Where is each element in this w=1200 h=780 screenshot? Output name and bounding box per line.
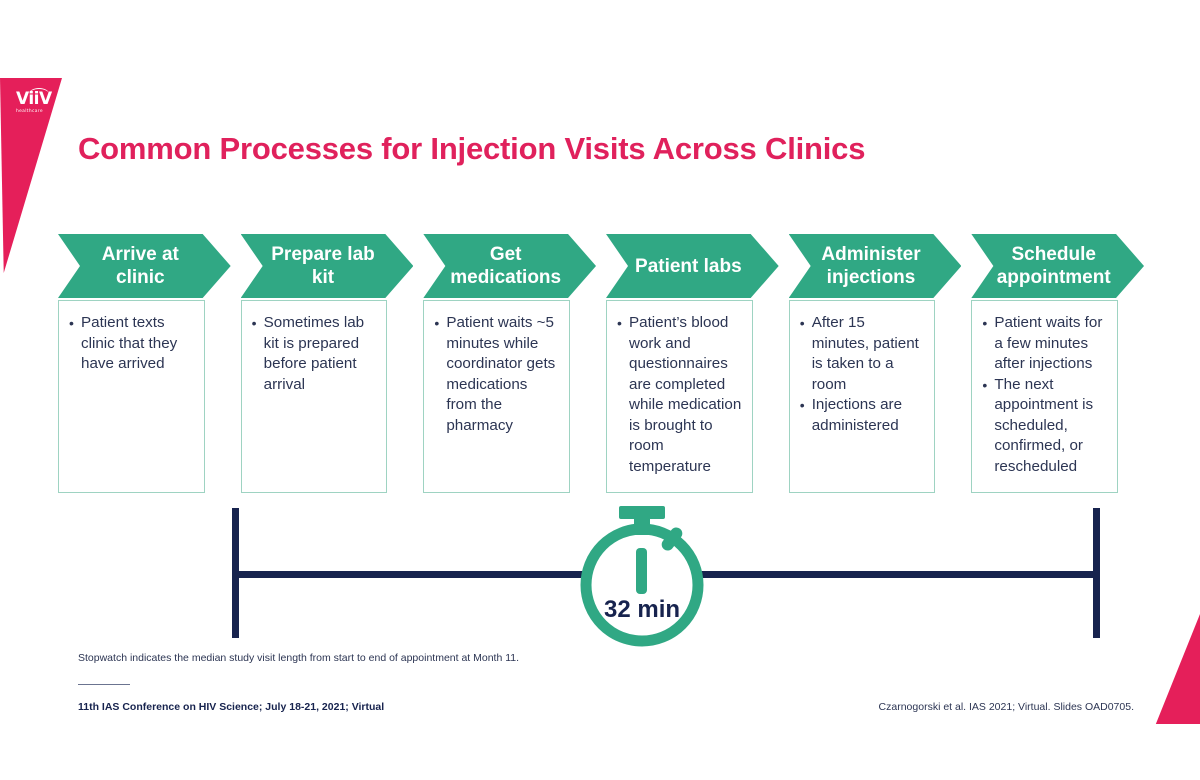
step-header-label: Prepare lab kit (259, 243, 388, 289)
step-body-box: Patient waits ~5 minutes while coordinat… (423, 300, 570, 493)
list-item: Sometimes lab kit is prepared before pat… (252, 313, 379, 395)
list-item: Patient’s blood work and questionnaires … (617, 313, 744, 477)
step-bullet-list: Patient waits ~5 minutes while coordinat… (434, 313, 561, 436)
process-step-5: Administer injections After 15 minutes, … (789, 234, 972, 493)
step-header-chevron: Get medications (423, 234, 596, 298)
footnote-text: Stopwatch indicates the median study vis… (78, 652, 519, 664)
timeline-start-cap (232, 508, 239, 638)
brand-wedge-left-icon (0, 78, 62, 273)
brand-wedge-right-icon (1152, 614, 1200, 724)
step-bullet-list: Patient’s blood work and questionnaires … (617, 313, 744, 477)
step-header-chevron: Prepare lab kit (241, 234, 414, 298)
step-bullet-list: After 15 minutes, patient is taken to a … (800, 313, 927, 436)
list-item: Patient waits ~5 minutes while coordinat… (434, 313, 561, 436)
step-header-chevron: Patient labs (606, 234, 779, 298)
footer-conference-text: 11th IAS Conference on HIV Science; July… (78, 701, 384, 713)
process-step-3: Get medications Patient waits ~5 minutes… (423, 234, 606, 493)
step-bullet-list: Patient texts clinic that they have arri… (69, 313, 196, 375)
step-header-label: Schedule appointment (989, 243, 1118, 289)
step-bullet-list: Patient waits for a few minutes after in… (982, 313, 1109, 477)
footer-divider (78, 684, 130, 685)
step-body-box: After 15 minutes, patient is taken to a … (789, 300, 936, 493)
timeline-end-cap (1093, 508, 1100, 638)
list-item: Patient waits for a few minutes after in… (982, 313, 1109, 375)
step-header-chevron: Schedule appointment (971, 234, 1144, 298)
step-body-box: Patient waits for a few minutes after in… (971, 300, 1118, 493)
page-title: Common Processes for Injection Visits Ac… (78, 131, 865, 167)
list-item: After 15 minutes, patient is taken to a … (800, 313, 927, 395)
stopwatch-icon: 32 min (562, 500, 722, 650)
step-header-label: Administer injections (807, 243, 936, 289)
step-header-chevron: Arrive at clinic (58, 234, 231, 298)
step-header-label: Get medications (441, 243, 570, 289)
step-header-label: Patient labs (635, 255, 742, 278)
process-step-1: Arrive at clinic Patient texts clinic th… (58, 234, 241, 493)
footer-citation-text: Czarnogorski et al. IAS 2021; Virtual. S… (879, 701, 1134, 713)
step-body-box: Sometimes lab kit is prepared before pat… (241, 300, 388, 493)
process-step-4: Patient labs Patient’s blood work and qu… (606, 234, 789, 493)
slide-canvas: ViiV healthcare Common Processes for Inj… (0, 0, 1200, 780)
step-header-label: Arrive at clinic (76, 243, 205, 289)
step-body-box: Patient’s blood work and questionnaires … (606, 300, 753, 493)
step-bullet-list: Sometimes lab kit is prepared before pat… (252, 313, 379, 395)
stopwatch-duration-label: 32 min (562, 596, 722, 624)
step-body-box: Patient texts clinic that they have arri… (58, 300, 205, 493)
list-item: Injections are administered (800, 395, 927, 436)
process-flow: Arrive at clinic Patient texts clinic th… (58, 234, 1148, 493)
step-header-chevron: Administer injections (789, 234, 962, 298)
process-step-6: Schedule appointment Patient waits for a… (971, 234, 1148, 493)
list-item: Patient texts clinic that they have arri… (69, 313, 196, 375)
list-item: The next appointment is scheduled, confi… (982, 375, 1109, 478)
process-step-2: Prepare lab kit Sometimes lab kit is pre… (241, 234, 424, 493)
